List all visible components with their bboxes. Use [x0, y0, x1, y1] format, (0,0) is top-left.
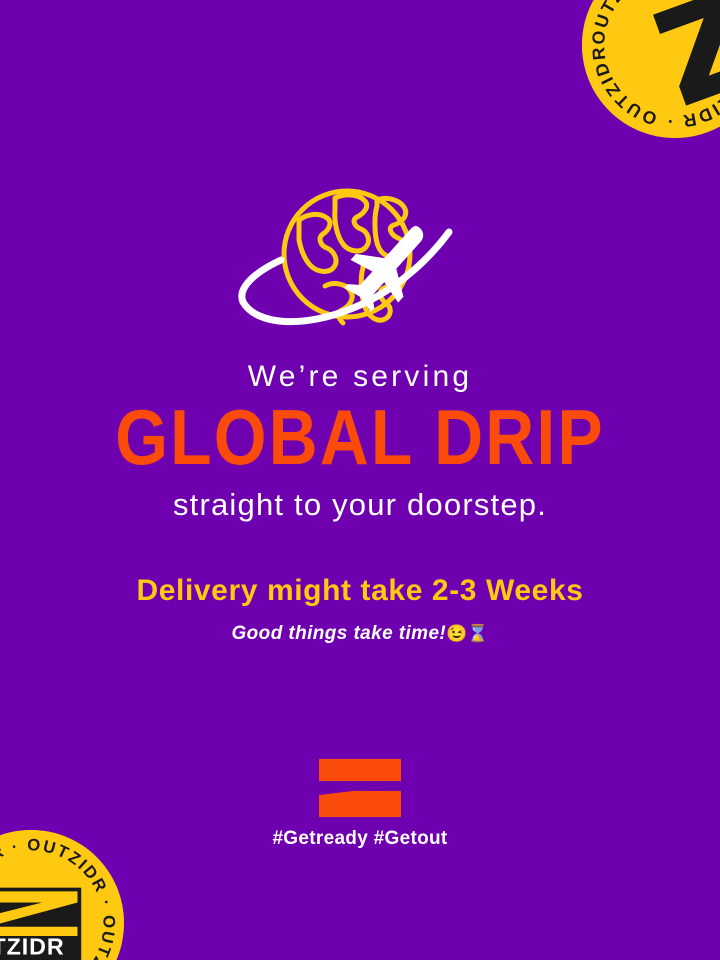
subhead-text: straight to your doorstep. — [0, 489, 720, 520]
brand-badge-top-right: OUTZIDR · OUTZIDR · OUTZIDR · OUTZIDR · — [582, 0, 720, 138]
promo-poster: OUTZIDR · OUTZIDR · OUTZIDR · OUTZIDR · — [0, 0, 720, 960]
z-monogram-logo — [319, 759, 401, 817]
copy-block: We’re serving GLOBAL DRIP straight to yo… — [0, 362, 720, 643]
eyebrow-text: We’re serving — [0, 362, 720, 392]
globe-airplane-illustration — [235, 176, 485, 344]
brand-badge-bottom-left: OUTZIDR · OUTZIDR · OUTZIDR · OUTZIDR · … — [0, 830, 124, 960]
badge-wordmark: OUTZIDR — [0, 934, 65, 960]
headline-text: GLOBAL DRIP — [0, 398, 720, 478]
tagline-emoji: 😉⌛ — [446, 624, 488, 643]
delivery-notice-text: Delivery might take 2-3 Weeks — [0, 576, 720, 606]
tagline-words: Good things take time! — [232, 623, 447, 644]
orbit-trail-tail-icon — [242, 260, 281, 302]
tagline-text: Good things take time!😉⌛ — [0, 624, 720, 643]
